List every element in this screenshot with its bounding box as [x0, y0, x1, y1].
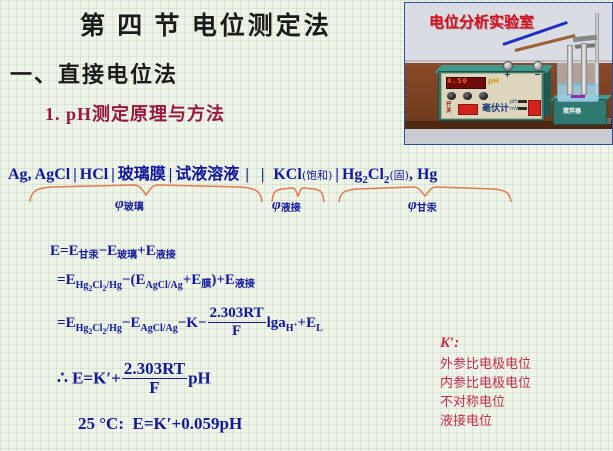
phi-symbol-calomel: φ: [408, 197, 417, 213]
slide-canvas: 第 四 节 电位测定法 一、直接电位法 1. pH测定原理与方法 Ag, AgC…: [0, 0, 613, 451]
eq2-term-1-sub: Hg2Cl2/Hg: [76, 272, 122, 288]
eq4-fraction-numerator: 2.303RT: [122, 360, 187, 379]
kprime-note-item-1: 外参比电极电位: [440, 355, 531, 374]
cell-segment-kcl-saturated: (饱和): [302, 169, 333, 182]
kprime-note-item-3: 不对称电位: [440, 393, 531, 412]
eq1-equals: =: [60, 243, 69, 259]
phi-subscript-junction: 液接: [281, 203, 301, 214]
kprime-note-item-2: 内参比电极电位: [440, 374, 531, 393]
eq4-therefore: ∴: [57, 369, 68, 388]
meter-power-switch[interactable]: [458, 104, 478, 115]
cell-segment-kcl: KCl: [273, 166, 301, 183]
brace-glass: [28, 182, 268, 204]
phi-symbol-junction: φ: [272, 197, 281, 213]
eq3-activity-sub: H+: [286, 315, 298, 331]
eq5-value: 0.059: [181, 414, 219, 433]
eq5-lhs: E: [133, 414, 144, 433]
phi-symbol-glass: φ: [115, 196, 124, 212]
meter-power-switch-label: 开关: [446, 102, 452, 114]
cell-segment-solid-state: (固): [389, 169, 409, 182]
eq3-term-1-sub: Hg2Cl2/Hg: [76, 315, 122, 331]
eq2-term-3-sub: 膜: [201, 279, 211, 290]
phi-label-glass: φ玻璃: [115, 196, 144, 213]
cell-segment-hcl: HCl: [80, 166, 108, 183]
eq1-term-1: E: [69, 243, 79, 259]
sub-heading: 1. pH测定原理与方法: [45, 100, 225, 126]
eq1-term-2: E: [107, 243, 117, 259]
phi-subscript-calomel: 甘汞: [417, 203, 437, 214]
phi-label-calomel: φ甘汞: [408, 197, 437, 214]
equation-line-2: =EHg2Cl2/Hg−(EAgCl/Ag+E膜)+E液接: [57, 272, 255, 293]
eq3-fraction: 2.303RTF: [208, 306, 266, 339]
cell-segment-glass-membrane: 玻璃膜: [118, 164, 166, 183]
eq2-term-3: E: [191, 272, 201, 288]
beaker: [557, 63, 599, 102]
eq4-lhs: E: [72, 369, 83, 388]
cell-comma: ,: [409, 166, 413, 183]
meter-knob-2[interactable]: [463, 92, 472, 100]
meter-terminal-positive-label: +: [504, 71, 511, 79]
eq1-op-1: −: [99, 243, 108, 259]
eq1-term-3: E: [146, 243, 156, 259]
eq3-op-2: −: [178, 315, 187, 331]
eq4-fraction: 2.303RTF: [122, 360, 187, 398]
eq1-term-3-sub: 液接: [156, 250, 176, 261]
meter-name-label: 毫伏计: [482, 105, 509, 114]
equation-line-4: ∴ E=K′+2.303RTFpH: [57, 361, 211, 399]
eq3-activity: a: [278, 315, 286, 331]
stirrer-label: 搅拌器: [563, 109, 581, 115]
page-title: 第 四 节 电位测定法: [80, 6, 332, 42]
beaker-solution: [558, 84, 598, 101]
cell-segment-sample-solution: 试液溶液: [175, 164, 239, 183]
lab-floor: [405, 129, 612, 144]
meter-range-switch-mv[interactable]: [518, 107, 527, 110]
eq3-term-2-sub: AgCl/Ag: [141, 315, 178, 331]
eq3-term-1: E: [66, 315, 76, 331]
eq2-term-2: E: [135, 272, 145, 288]
eq2-op-2: +: [183, 272, 192, 288]
meter-display-unit: pH: [488, 78, 499, 85]
eq1-op-2: +: [137, 243, 146, 259]
eq2-term-4-sub: 液接: [235, 279, 255, 290]
eq2-op-3: +: [216, 272, 225, 288]
eq2-term-2-sub: AgCl/Ag: [146, 272, 183, 288]
magnetic-stir-bar: [571, 95, 585, 98]
eq3-el: E: [306, 315, 316, 331]
eq1-term-1-sub: 甘汞: [79, 250, 99, 261]
eq5-temperature: 25 °C:: [78, 414, 124, 433]
kprime-note-title: K′:: [440, 334, 531, 353]
phi-subscript-glass: 玻璃: [124, 202, 144, 213]
lab-illustration: 电位分析实验室 搅拌器 4.50 pH: [404, 2, 613, 145]
equation-line-5: 25 °C: E=K′+0.059pH: [78, 414, 242, 434]
glass-electrode: [567, 45, 573, 95]
cell-segment-silver-chloride: Ag, AgCl: [8, 166, 70, 183]
eq3-equals: =: [57, 315, 66, 331]
eq4-ph: pH: [188, 369, 211, 388]
eq4-op: +: [111, 369, 121, 388]
cell-segment-mercurous-chloride: Hg2Cl2: [342, 166, 389, 183]
cell-bar-4: |: [332, 166, 342, 184]
meter-function-button[interactable]: [528, 100, 541, 116]
kprime-note-item-4: 液接电位: [440, 412, 531, 431]
beaker-solution-surface: [558, 83, 598, 86]
eq3-fraction-denominator: F: [208, 323, 266, 340]
section-heading: 一、直接电位法: [10, 57, 178, 89]
eq2-term-1: E: [66, 272, 76, 288]
eq3-term-2: E: [130, 315, 140, 331]
eq3-el-sub: L: [316, 315, 323, 331]
meter-terminal-negative-label: −: [534, 71, 541, 79]
equation-line-1: E=E甘汞−E玻璃+E液接: [50, 243, 176, 261]
eq3-k: K: [186, 315, 198, 331]
reference-electrode: [581, 43, 587, 95]
eq2-term-4: E: [225, 272, 235, 288]
meter-knob-3[interactable]: [479, 92, 488, 100]
eq4-kprime: K′: [93, 369, 111, 388]
eq4-equals: =: [83, 369, 93, 388]
kprime-note-block: K′: 外参比电极电位 内参比电极电位 不对称电位 液接电位: [440, 334, 531, 431]
eq4-fraction-denominator: F: [122, 379, 187, 398]
eq1-lhs: E: [50, 243, 60, 259]
equation-line-3: =EHg2Cl2/Hg−EAgCl/Ag−K−2.303RTFlgaH++EL: [57, 307, 323, 340]
eq2-equals: =: [57, 272, 66, 288]
meter-range-switch-ph[interactable]: [518, 100, 527, 103]
meter-display-value: 4.50: [447, 78, 468, 85]
eq5-ph: pH: [219, 414, 242, 433]
eq3-fraction-numerator: 2.303RT: [208, 306, 266, 323]
eq5-op: +: [172, 414, 182, 433]
lab-illustration-title: 电位分析实验室: [429, 11, 534, 32]
eq3-op-3: −: [198, 315, 207, 331]
meter-knob-1[interactable]: [447, 92, 456, 100]
cell-segment-mercury: Hg: [417, 166, 437, 183]
phi-label-junction: φ液接: [272, 197, 301, 214]
eq5-kprime: K′: [154, 414, 172, 433]
eq3-op-4: +: [298, 315, 307, 331]
eq3-lg: lg: [267, 315, 279, 331]
millivolt-meter-face: 4.50 pH 开关 毫伏计 pHmV: [441, 73, 542, 119]
eq5-equals: =: [144, 414, 154, 433]
eq1-term-2-sub: 玻璃: [117, 250, 137, 261]
